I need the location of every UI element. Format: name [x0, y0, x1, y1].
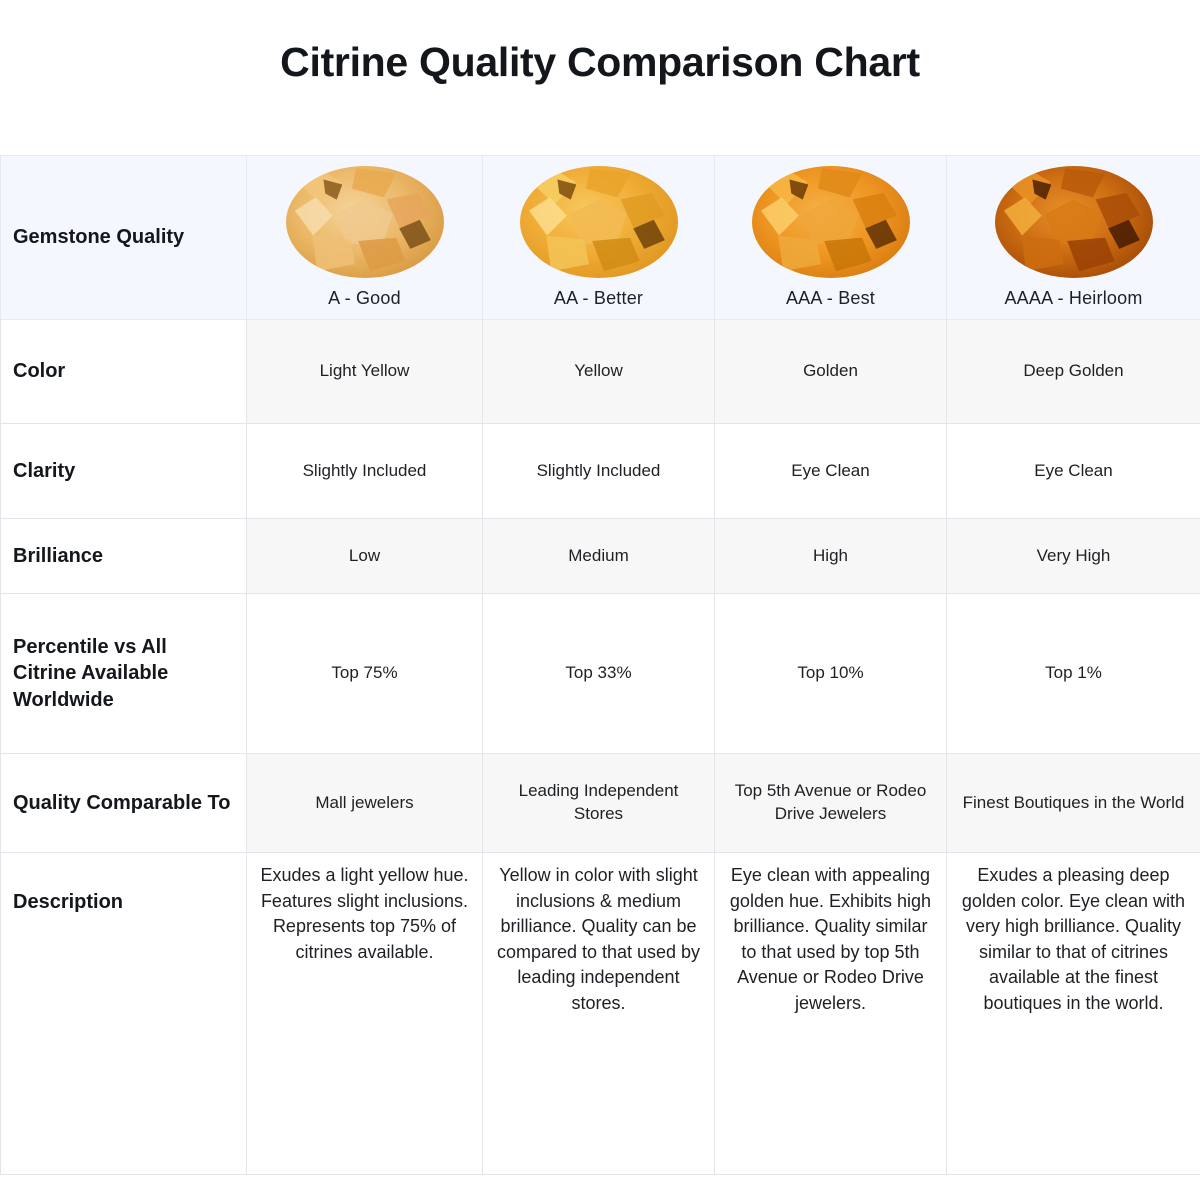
- grade-header-aaa: AAA - Best: [715, 156, 947, 320]
- cell-brilliance-a: Low: [247, 519, 483, 594]
- page-title-area: Citrine Quality Comparison Chart: [0, 0, 1200, 155]
- citrine-oval-gem-yellow-icon: [520, 166, 678, 278]
- cell-clarity-aaaa: Eye Clean: [947, 424, 1200, 519]
- cell-percentile-a: Top 75%: [247, 594, 483, 754]
- cell-color-aaaa: Deep Golden: [947, 320, 1200, 424]
- grade-label-a: A - Good: [259, 288, 470, 309]
- citrine-oval-gem-deep-golden-icon: [995, 166, 1153, 278]
- cell-brilliance-aaaa: Very High: [947, 519, 1200, 594]
- grade-header-aaaa: AAAA - Heirloom: [947, 156, 1200, 320]
- page-title: Citrine Quality Comparison Chart: [280, 39, 920, 116]
- cell-description-aa: Yellow in color with slight inclusions &…: [483, 853, 715, 1175]
- table-row-quality-comparable: Quality Comparable To Mall jewelers Lead…: [1, 754, 1200, 853]
- row-label-brilliance: Brilliance: [1, 519, 247, 594]
- cell-percentile-aaa: Top 10%: [715, 594, 947, 754]
- cell-brilliance-aa: Medium: [483, 519, 715, 594]
- grade-header-aa: AA - Better: [483, 156, 715, 320]
- cell-percentile-aaaa: Top 1%: [947, 594, 1200, 754]
- table-row-percentile: Percentile vs All Citrine Available Worl…: [1, 594, 1200, 754]
- table-row-brilliance: Brilliance Low Medium High Very High: [1, 519, 1200, 594]
- table-row-color: Color Light Yellow Yellow Golden Deep Go…: [1, 320, 1200, 424]
- row-label-percentile: Percentile vs All Citrine Available Worl…: [1, 594, 247, 754]
- cell-brilliance-aaa: High: [715, 519, 947, 594]
- cell-clarity-aa: Slightly Included: [483, 424, 715, 519]
- grade-label-aa: AA - Better: [495, 288, 702, 309]
- grade-header-a: A - Good: [247, 156, 483, 320]
- cell-quality-comparable-aaaa: Finest Boutiques in the World: [947, 754, 1200, 853]
- row-label-description: Description: [1, 853, 247, 1175]
- cell-percentile-aa: Top 33%: [483, 594, 715, 754]
- cell-clarity-a: Slightly Included: [247, 424, 483, 519]
- cell-quality-comparable-aaa: Top 5th Avenue or Rodeo Drive Jewelers: [715, 754, 947, 853]
- table-header-row: Gemstone Quality A - Good: [1, 156, 1200, 320]
- table-row-description: Description Exudes a light yellow hue. F…: [1, 853, 1200, 1175]
- quality-comparison-table: Gemstone Quality A - Good: [0, 155, 1200, 1175]
- comparison-chart-page: Citrine Quality Comparison Chart Gemston…: [0, 0, 1200, 1200]
- cell-color-a: Light Yellow: [247, 320, 483, 424]
- row-label-quality-comparable: Quality Comparable To: [1, 754, 247, 853]
- cell-quality-comparable-a: Mall jewelers: [247, 754, 483, 853]
- cell-description-a: Exudes a light yellow hue. Features slig…: [247, 853, 483, 1175]
- cell-clarity-aaa: Eye Clean: [715, 424, 947, 519]
- row-label-clarity: Clarity: [1, 424, 247, 519]
- row-label-gemstone-quality: Gemstone Quality: [1, 156, 247, 320]
- cell-color-aaa: Golden: [715, 320, 947, 424]
- cell-description-aaaa: Exudes a pleasing deep golden color. Eye…: [947, 853, 1200, 1175]
- cell-color-aa: Yellow: [483, 320, 715, 424]
- citrine-oval-gem-golden-icon: [752, 166, 910, 278]
- grade-label-aaa: AAA - Best: [727, 288, 934, 309]
- citrine-oval-gem-light-golden-icon: [286, 166, 444, 278]
- table-row-clarity: Clarity Slightly Included Slightly Inclu…: [1, 424, 1200, 519]
- grade-label-aaaa: AAAA - Heirloom: [959, 288, 1188, 309]
- cell-quality-comparable-aa: Leading Independent Stores: [483, 754, 715, 853]
- row-label-color: Color: [1, 320, 247, 424]
- cell-description-aaa: Eye clean with appealing golden hue. Exh…: [715, 853, 947, 1175]
